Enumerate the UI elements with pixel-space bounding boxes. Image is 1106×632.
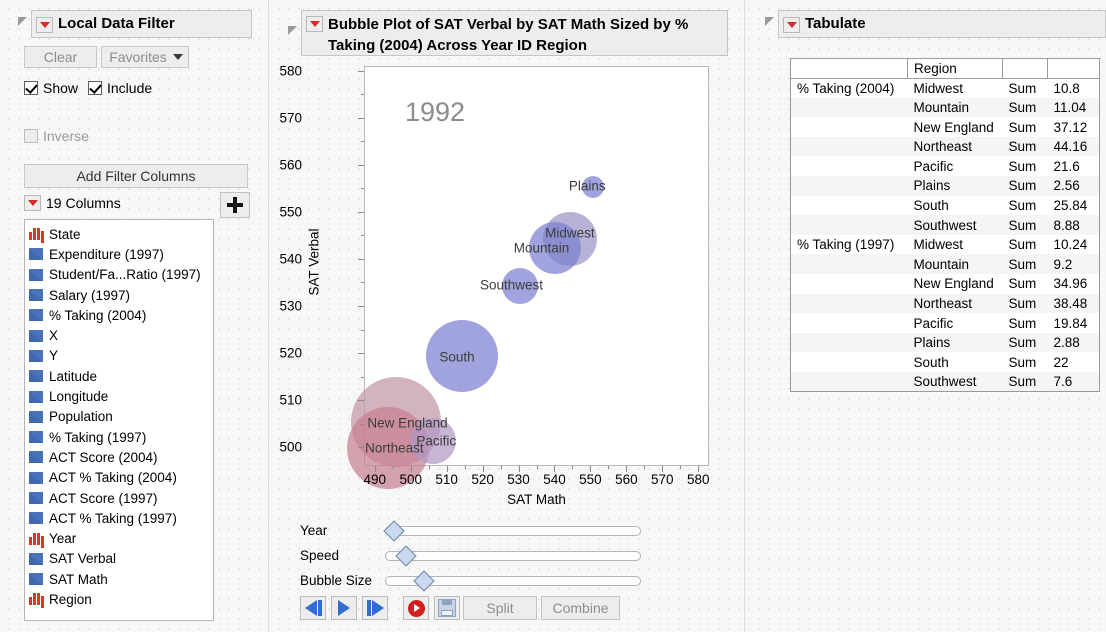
x-axis-tick-label: 520 xyxy=(463,472,503,487)
y-axis-tick-label: 500 xyxy=(262,440,302,455)
table-cell-value: 10.24 xyxy=(1048,235,1100,255)
table-cell-value: 2.88 xyxy=(1048,333,1100,353)
bubble-label: Midwest xyxy=(545,225,595,240)
table-cell-region: Midwest xyxy=(908,235,1003,255)
x-axis-tick-mark xyxy=(447,466,448,472)
add-filter-columns-button[interactable]: Add Filter Columns xyxy=(24,164,248,188)
column-name: ACT % Taking (1997) xyxy=(49,511,177,526)
x-axis-tick-label: 490 xyxy=(355,472,395,487)
column-list-item[interactable]: ACT % Taking (1997) xyxy=(29,508,213,528)
local-data-filter-panel-header: Local Data Filter xyxy=(18,10,252,38)
inverse-label: Inverse xyxy=(43,128,89,144)
y-axis-minor-tick xyxy=(361,141,364,142)
x-axis-tick-mark xyxy=(590,466,591,472)
table-row[interactable]: % Taking (2004)MidwestSum10.8 xyxy=(791,78,1100,98)
column-list-item[interactable]: Longitude xyxy=(29,386,213,406)
bubble-label: Northeast xyxy=(365,441,424,456)
table-cell-value: 8.88 xyxy=(1048,215,1100,235)
table-cell-label xyxy=(791,352,908,372)
table-row[interactable]: SouthSum22 xyxy=(791,352,1100,372)
column-name: SAT Verbal xyxy=(49,551,116,566)
column-name: Population xyxy=(49,409,113,424)
column-name: Year xyxy=(49,531,76,546)
continuous-column-icon xyxy=(29,248,43,260)
year-slider-track[interactable] xyxy=(385,526,641,536)
table-cell-stat: Sum xyxy=(1003,78,1048,98)
red-triangle-menu-icon[interactable] xyxy=(783,17,800,33)
column-name: Student/Fa...Ratio (1997) xyxy=(49,267,201,282)
y-axis-tick-mark xyxy=(358,447,364,448)
x-axis-tick-label: 580 xyxy=(678,472,718,487)
y-axis-tick-label: 510 xyxy=(262,393,302,408)
year-annotation: 1992 xyxy=(405,97,465,128)
table-cell-stat: Sum xyxy=(1003,333,1048,353)
x-axis-tick-mark xyxy=(626,466,627,472)
column-name: ACT Score (2004) xyxy=(49,450,158,465)
bubble-plot-panel-header: Bubble Plot of SAT Verbal by SAT Math Si… xyxy=(288,10,728,56)
show-checkbox[interactable] xyxy=(24,81,38,95)
table-cell-stat: Sum xyxy=(1003,215,1048,235)
table-cell-stat: Sum xyxy=(1003,156,1048,176)
table-cell-region: Pacific xyxy=(908,313,1003,333)
table-cell-value: 37.12 xyxy=(1048,117,1100,137)
table-row[interactable]: PlainsSum2.56 xyxy=(791,176,1100,196)
table-cell-region: Southwest xyxy=(908,372,1003,392)
y-axis-tick-mark xyxy=(358,118,364,119)
favorites-label: Favorites xyxy=(109,47,167,67)
table-cell-region: Northeast xyxy=(908,137,1003,157)
y-axis-tick-label: 550 xyxy=(262,204,302,219)
continuous-column-icon xyxy=(29,391,43,403)
column-name: ACT Score (1997) xyxy=(49,491,158,506)
x-axis-minor-tick xyxy=(680,466,681,469)
table-row[interactable]: % Taking (1997)MidwestSum10.24 xyxy=(791,235,1100,255)
table-row[interactable]: SouthwestSum7.6 xyxy=(791,372,1100,392)
x-axis-tick-label: 560 xyxy=(606,472,646,487)
y-axis-tick-label: 580 xyxy=(262,63,302,78)
panel-divider-left[interactable] xyxy=(268,0,269,632)
column-name: Region xyxy=(49,592,92,607)
bubble-size-slider-row[interactable]: Bubble Size xyxy=(300,573,641,588)
include-checkbox-row[interactable]: Include xyxy=(88,80,152,96)
continuous-column-icon xyxy=(29,512,43,524)
x-axis-minor-tick xyxy=(644,466,645,469)
column-list-item[interactable]: Y xyxy=(29,346,213,366)
table-cell-value: 44.16 xyxy=(1048,137,1100,157)
x-axis-minor-tick xyxy=(393,466,394,469)
y-axis-tick-label: 560 xyxy=(262,157,302,172)
columns-header: 19 Columns xyxy=(24,195,121,211)
bubble-label: Mountain xyxy=(514,241,570,256)
column-list[interactable]: StateExpenditure (1997)Student/Fa...Rati… xyxy=(24,219,214,621)
y-axis-minor-tick xyxy=(361,282,364,283)
table-cell-stat: Sum xyxy=(1003,274,1048,294)
record-button[interactable] xyxy=(403,596,429,620)
table-cell-stat: Sum xyxy=(1003,254,1048,274)
floppy-disk-icon xyxy=(438,599,456,617)
table-cell-region: Pacific xyxy=(908,156,1003,176)
nominal-column-icon xyxy=(29,533,43,545)
table-row[interactable]: NortheastSum38.48 xyxy=(791,294,1100,314)
table-header-cell xyxy=(1048,59,1100,79)
step-forward-icon xyxy=(367,600,384,616)
bubble-label: Southwest xyxy=(480,277,543,292)
bubble-plot-title: Bubble Plot of SAT Verbal by SAT Math Si… xyxy=(328,14,719,56)
combine-button[interactable]: Combine xyxy=(541,596,620,620)
tabulate-table[interactable]: Region% Taking (2004)MidwestSum10.8Mount… xyxy=(790,58,1100,392)
table-row[interactable]: SouthwestSum8.88 xyxy=(791,215,1100,235)
table-cell-stat: Sum xyxy=(1003,372,1048,392)
inverse-checkbox-row[interactable]: Inverse xyxy=(24,128,89,144)
x-axis-tick-mark xyxy=(662,466,663,472)
speed-slider-track[interactable] xyxy=(385,551,641,561)
x-axis-label: SAT Math xyxy=(364,492,709,507)
table-cell-label xyxy=(791,333,908,353)
year-slider-knob[interactable] xyxy=(383,520,404,541)
y-axis-tick-mark xyxy=(358,71,364,72)
year-slider-label: Year xyxy=(300,523,385,538)
x-axis-minor-tick xyxy=(429,466,430,469)
table-cell-region: Southwest xyxy=(908,215,1003,235)
table-header-row: Region xyxy=(791,59,1100,79)
bubble-label: South xyxy=(439,350,474,365)
panel-collapse-triangle-icon[interactable] xyxy=(765,17,774,26)
y-axis-tick-label: 520 xyxy=(262,346,302,361)
column-list-item[interactable]: SAT Verbal xyxy=(29,549,213,569)
table-cell-label xyxy=(791,98,908,118)
x-axis-tick-mark xyxy=(519,466,520,472)
column-list-item[interactable]: ACT Score (1997) xyxy=(29,488,213,508)
nominal-column-icon xyxy=(29,228,43,240)
column-name: Expenditure (1997) xyxy=(49,247,164,262)
y-axis-tick-mark xyxy=(358,212,364,213)
table-cell-region: Plains xyxy=(908,333,1003,353)
table-header-cell xyxy=(1003,59,1048,79)
column-name: X xyxy=(49,328,58,343)
table-cell-stat: Sum xyxy=(1003,117,1048,137)
red-triangle-menu-icon[interactable] xyxy=(306,16,323,32)
column-list-item[interactable]: % Taking (1997) xyxy=(29,427,213,447)
table-cell-label xyxy=(791,372,908,392)
y-axis-tick-mark xyxy=(358,353,364,354)
continuous-column-icon xyxy=(29,289,43,301)
table-cell-label xyxy=(791,117,908,137)
x-axis-tick-mark xyxy=(375,466,376,472)
x-axis-tick-label: 540 xyxy=(534,472,574,487)
bubble-label: Plains xyxy=(569,179,606,194)
table-cell-label: % Taking (1997) xyxy=(791,235,908,255)
show-label: Show xyxy=(43,80,78,96)
columns-count-label: 19 Columns xyxy=(46,195,121,211)
table-header-cell xyxy=(791,59,908,79)
table-cell-region: Mountain xyxy=(908,98,1003,118)
x-axis-minor-tick xyxy=(572,466,573,469)
continuous-column-icon xyxy=(29,330,43,342)
table-cell-region: New England xyxy=(908,117,1003,137)
y-axis-minor-tick xyxy=(361,235,364,236)
step-back-icon xyxy=(305,600,322,616)
local-data-filter-title: Local Data Filter xyxy=(58,14,175,33)
show-checkbox-row[interactable]: Show xyxy=(24,80,78,96)
table-cell-value: 22 xyxy=(1048,352,1100,372)
bubble-plot-area[interactable]: 1992 PlainsMidwestMountainSouthwestSouth… xyxy=(288,62,728,512)
table-cell-value: 34.96 xyxy=(1048,274,1100,294)
continuous-column-icon xyxy=(29,269,43,281)
x-axis-tick-mark xyxy=(554,466,555,472)
speed-slider-knob[interactable] xyxy=(396,545,417,566)
table-cell-value: 9.2 xyxy=(1048,254,1100,274)
y-axis-minor-tick xyxy=(361,188,364,189)
table-cell-value: 21.6 xyxy=(1048,156,1100,176)
table-cell-stat: Sum xyxy=(1003,176,1048,196)
step-forward-button[interactable] xyxy=(362,596,388,620)
column-list-item[interactable]: X xyxy=(29,325,213,345)
continuous-column-icon xyxy=(29,431,43,443)
column-name: Longitude xyxy=(49,389,108,404)
table-row[interactable]: PacificSum21.6 xyxy=(791,156,1100,176)
x-axis-minor-tick xyxy=(537,466,538,469)
table-row[interactable]: SouthSum25.84 xyxy=(791,196,1100,216)
table-cell-stat: Sum xyxy=(1003,196,1048,216)
x-axis-minor-tick xyxy=(465,466,466,469)
bubble-size-slider-track[interactable] xyxy=(385,576,641,586)
y-axis-minor-tick xyxy=(361,94,364,95)
table-cell-label xyxy=(791,137,908,157)
table-cell-region: South xyxy=(908,352,1003,372)
column-list-item[interactable]: Year xyxy=(29,528,213,548)
continuous-column-icon xyxy=(29,492,43,504)
table-row[interactable]: New EnglandSum37.12 xyxy=(791,117,1100,137)
favorites-button[interactable]: Favorites xyxy=(101,46,189,68)
year-slider-row[interactable]: Year xyxy=(300,523,641,538)
inverse-checkbox[interactable] xyxy=(24,129,38,143)
table-cell-label xyxy=(791,176,908,196)
continuous-column-icon xyxy=(29,553,43,565)
x-axis-tick-mark xyxy=(698,466,699,472)
table-cell-label xyxy=(791,274,908,294)
table-cell-region: South xyxy=(908,196,1003,216)
table-row[interactable]: PlainsSum2.88 xyxy=(791,333,1100,353)
columns-red-triangle-menu-icon[interactable] xyxy=(24,195,41,211)
y-axis-minor-tick xyxy=(361,377,364,378)
y-axis-tick-label: 530 xyxy=(262,299,302,314)
y-axis-tick-mark xyxy=(358,259,364,260)
table-cell-label xyxy=(791,254,908,274)
column-list-item[interactable]: State xyxy=(29,224,213,244)
nominal-column-icon xyxy=(29,593,43,605)
column-name: SAT Math xyxy=(49,572,108,587)
panel-divider-right[interactable] xyxy=(744,0,745,632)
x-axis-tick-label: 570 xyxy=(642,472,682,487)
speed-slider-row[interactable]: Speed xyxy=(300,548,641,563)
table-cell-region: Mountain xyxy=(908,254,1003,274)
include-checkbox[interactable] xyxy=(88,81,102,95)
y-axis-tick-label: 540 xyxy=(262,251,302,266)
continuous-column-icon xyxy=(29,411,43,423)
continuous-column-icon xyxy=(29,350,43,362)
table-cell-region: Midwest xyxy=(908,78,1003,98)
bubble-size-slider-knob[interactable] xyxy=(413,570,434,591)
x-axis-tick-mark xyxy=(411,466,412,472)
include-label: Include xyxy=(107,80,152,96)
y-axis-minor-tick xyxy=(361,330,364,331)
plot-frame[interactable]: 1992 PlainsMidwestMountainSouthwestSouth… xyxy=(364,66,709,466)
play-icon xyxy=(338,600,350,616)
continuous-column-icon xyxy=(29,309,43,321)
table-cell-label xyxy=(791,215,908,235)
y-axis-tick-mark xyxy=(358,400,364,401)
bubble-label: Pacific xyxy=(416,434,456,449)
column-list-item[interactable]: Salary (1997) xyxy=(29,285,213,305)
table-cell-stat: Sum xyxy=(1003,137,1048,157)
step-back-button[interactable] xyxy=(300,596,326,620)
y-axis-minor-tick xyxy=(361,424,364,425)
column-list-item[interactable]: SAT Math xyxy=(29,569,213,589)
table-cell-value: 25.84 xyxy=(1048,196,1100,216)
column-name: Y xyxy=(49,348,58,363)
y-axis-label: SAT Verbal xyxy=(307,212,322,312)
column-name: Salary (1997) xyxy=(49,288,130,303)
x-axis-minor-tick xyxy=(608,466,609,469)
bubble-label: New England xyxy=(367,416,447,431)
table-cell-label xyxy=(791,156,908,176)
red-triangle-menu-icon[interactable] xyxy=(36,17,53,33)
table-cell-value: 38.48 xyxy=(1048,294,1100,314)
table-cell-value: 7.6 xyxy=(1048,372,1100,392)
panel-collapse-triangle-icon[interactable] xyxy=(288,26,297,35)
table-cell-label: % Taking (2004) xyxy=(791,78,908,98)
record-icon xyxy=(408,600,425,617)
table-header-cell: Region xyxy=(908,59,1003,79)
panel-collapse-triangle-icon[interactable] xyxy=(18,17,27,26)
split-button[interactable]: Split xyxy=(463,596,537,620)
table-cell-value: 19.84 xyxy=(1048,313,1100,333)
chevron-down-icon xyxy=(173,54,183,60)
y-axis-tick-label: 570 xyxy=(262,110,302,125)
y-axis-tick-mark xyxy=(358,165,364,166)
speed-slider-label: Speed xyxy=(300,548,385,563)
column-list-item[interactable]: % Taking (2004) xyxy=(29,305,213,325)
table-cell-stat: Sum xyxy=(1003,294,1048,314)
continuous-column-icon xyxy=(29,451,43,463)
table-row[interactable]: New EnglandSum34.96 xyxy=(791,274,1100,294)
column-name: % Taking (1997) xyxy=(49,430,146,445)
table-cell-region: Northeast xyxy=(908,294,1003,314)
table-row[interactable]: NortheastSum44.16 xyxy=(791,137,1100,157)
x-axis-tick-label: 500 xyxy=(391,472,431,487)
continuous-column-icon xyxy=(29,370,43,382)
column-list-item[interactable]: Latitude xyxy=(29,366,213,386)
clear-button[interactable]: Clear xyxy=(24,46,97,68)
column-name: ACT % Taking (2004) xyxy=(49,470,177,485)
table-cell-stat: Sum xyxy=(1003,352,1048,372)
continuous-column-icon xyxy=(29,573,43,585)
table-cell-stat: Sum xyxy=(1003,235,1048,255)
table-row[interactable]: PacificSum19.84 xyxy=(791,313,1100,333)
bubble-size-slider-label: Bubble Size xyxy=(300,573,385,588)
table-cell-region: Plains xyxy=(908,176,1003,196)
continuous-column-icon xyxy=(29,472,43,484)
table-cell-value: 11.04 xyxy=(1048,98,1100,118)
table-row[interactable]: MountainSum9.2 xyxy=(791,254,1100,274)
y-axis-tick-mark xyxy=(358,306,364,307)
table-cell-region: New England xyxy=(908,274,1003,294)
x-axis-tick-mark xyxy=(483,466,484,472)
table-cell-value: 10.8 xyxy=(1048,78,1100,98)
column-list-item[interactable]: Expenditure (1997) xyxy=(29,244,213,264)
save-button[interactable] xyxy=(434,596,460,620)
table-cell-stat: Sum xyxy=(1003,313,1048,333)
tabulate-panel-header: Tabulate xyxy=(765,10,1106,38)
column-list-item[interactable]: Region xyxy=(29,589,213,609)
x-axis-tick-label: 550 xyxy=(570,472,610,487)
table-cell-value: 2.56 xyxy=(1048,176,1100,196)
column-list-item[interactable]: ACT Score (2004) xyxy=(29,447,213,467)
add-column-plus-icon[interactable] xyxy=(220,192,250,218)
table-cell-stat: Sum xyxy=(1003,98,1048,118)
column-list-item[interactable]: Student/Fa...Ratio (1997) xyxy=(29,265,213,285)
column-list-item[interactable]: ACT % Taking (2004) xyxy=(29,468,213,488)
x-axis-tick-label: 530 xyxy=(499,472,539,487)
column-name: State xyxy=(49,227,81,242)
column-name: Latitude xyxy=(49,369,97,384)
table-cell-label xyxy=(791,294,908,314)
column-name: % Taking (2004) xyxy=(49,308,146,323)
table-row[interactable]: MountainSum11.04 xyxy=(791,98,1100,118)
column-list-item[interactable]: Population xyxy=(29,407,213,427)
play-button[interactable] xyxy=(331,596,357,620)
x-axis-minor-tick xyxy=(501,466,502,469)
tabulate-title: Tabulate xyxy=(805,14,866,33)
table-cell-label xyxy=(791,196,908,216)
x-axis-tick-label: 510 xyxy=(427,472,467,487)
table-cell-label xyxy=(791,313,908,333)
